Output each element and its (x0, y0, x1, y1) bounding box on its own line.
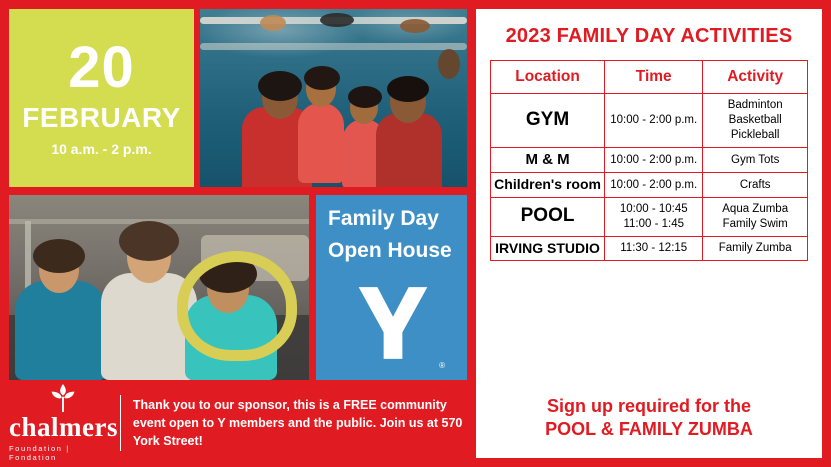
date-time: 10 a.m. - 2 p.m. (51, 141, 151, 157)
signup-notice-line1: Sign up required for the (490, 395, 808, 418)
registered-mark: ® (439, 361, 445, 370)
open-house-panel: Family Day Open House ® (316, 195, 467, 380)
cell-activity: Gym Tots (703, 147, 808, 173)
table-header-row: Location Time Activity (491, 61, 808, 94)
date-card: 20 FEBRUARY 10 a.m. - 2 p.m. (9, 9, 194, 187)
cell-time: 10:00 - 2:00 p.m. (605, 147, 703, 173)
pool-family-group (250, 69, 430, 187)
child-body (15, 281, 107, 380)
pool-background-swimmer (320, 13, 354, 27)
open-house-title-line1: Family Day (328, 207, 457, 231)
table-row: IRVING STUDIO11:30 - 12:15Family Zumba (491, 236, 808, 260)
play-tunnel (177, 251, 297, 361)
ymca-y-logo-icon (354, 283, 432, 363)
cell-time: 11:30 - 12:15 (605, 236, 703, 260)
swimmer-adult-hair (387, 76, 429, 102)
signup-notice-line2: POOL & FAMILY ZUMBA (490, 418, 808, 441)
pool-background-swimmer (438, 49, 460, 79)
cell-time: 10:00 - 10:4511:00 - 1:45 (605, 197, 703, 236)
cell-location: Children's room (491, 173, 605, 197)
cell-activity: Badminton Basketball Pickleball (703, 94, 808, 148)
cell-activity: Family Zumba (703, 236, 808, 260)
footer: chalmers Foundation | Fondation Thank yo… (9, 388, 467, 458)
pool-background-swimmer (260, 15, 286, 31)
activities-table-body: GYM10:00 - 2:00 p.m.Badminton Basketball… (491, 94, 808, 261)
column-header-location: Location (491, 61, 605, 94)
chalmers-wordmark: chalmers (9, 414, 118, 441)
cell-location: IRVING STUDIO (491, 236, 605, 260)
pool-family-photo (200, 9, 467, 187)
cell-activity: Crafts (703, 173, 808, 197)
signup-notice: Sign up required for the POOL & FAMILY Z… (490, 395, 808, 446)
activities-panel: 2023 FAMILY DAY ACTIVITIES Location Time… (476, 9, 822, 458)
open-house-title-line2: Open House (328, 239, 457, 263)
chalmers-subtitle: Foundation | Fondation (9, 444, 118, 462)
family-gym-photo (9, 195, 309, 380)
cell-location: GYM (491, 94, 605, 148)
date-month: FEBRUARY (22, 103, 181, 134)
swimmer-adult-hair (258, 71, 302, 101)
sponsor-message: Thank you to our sponsor, this is a FREE… (133, 396, 467, 450)
column-header-activity: Activity (703, 61, 808, 94)
table-row: POOL10:00 - 10:4511:00 - 1:45Aqua ZumbaF… (491, 197, 808, 236)
cell-time: 10:00 - 2:00 p.m. (605, 173, 703, 197)
swimmer-child-hair (304, 66, 340, 90)
adult-hair (119, 221, 179, 261)
chalmers-logo: chalmers Foundation | Fondation (9, 384, 118, 462)
swimmer-child-body (298, 103, 344, 183)
table-row: Children's room10:00 - 2:00 p.m.Crafts (491, 173, 808, 197)
cell-location: M & M (491, 147, 605, 173)
poster-root: 20 FEBRUARY 10 a.m. - 2 p.m. (0, 0, 831, 467)
chalmers-flower-icon (50, 384, 76, 412)
panel-title: 2023 FAMILY DAY ACTIVITIES (490, 25, 808, 48)
cell-time: 10:00 - 2:00 p.m. (605, 94, 703, 148)
activities-table: Location Time Activity GYM10:00 - 2:00 p… (490, 60, 808, 261)
child-hair (33, 239, 85, 273)
table-row: GYM10:00 - 2:00 p.m.Badminton Basketball… (491, 94, 808, 148)
pool-lane-rope (200, 43, 467, 50)
cell-location: POOL (491, 197, 605, 236)
pool-background-swimmer (400, 19, 430, 33)
column-header-time: Time (605, 61, 703, 94)
date-day: 20 (68, 39, 135, 97)
table-row: M & M10:00 - 2:00 p.m.Gym Tots (491, 147, 808, 173)
swimmer-child-hair (348, 86, 382, 108)
cell-activity: Aqua ZumbaFamily Swim (703, 197, 808, 236)
footer-divider (120, 395, 121, 451)
swimmer-adult-body (376, 113, 442, 187)
